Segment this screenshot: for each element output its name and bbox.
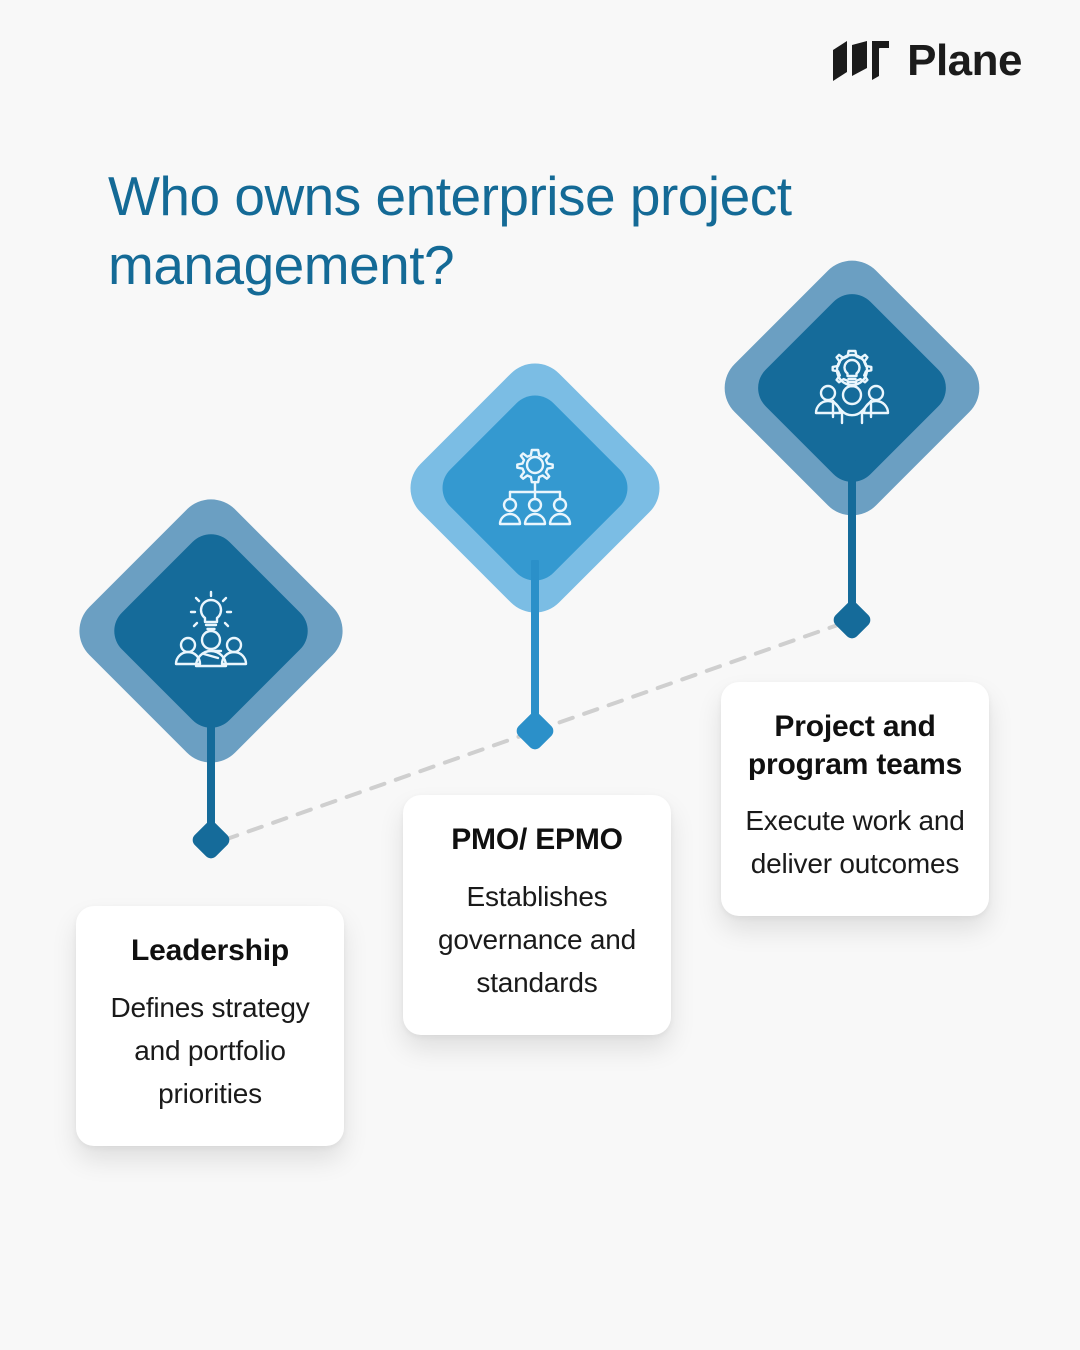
timeline-marker-project-program-teams [831, 599, 873, 641]
card-leadership[interactable]: Leadership Defines strategy and portfoli… [76, 906, 344, 1146]
lightbulb-over-team-icon [168, 588, 254, 674]
timeline-marker-pmo-epmo [514, 710, 556, 752]
gear-lightbulb-team-icon [809, 345, 895, 431]
card-title: Project and program teams [739, 708, 971, 783]
timeline-marker-leadership [190, 819, 232, 861]
card-body: Execute work and deliver outcomes [739, 799, 971, 886]
card-body: Defines strategy and portfolio prioritie… [94, 986, 326, 1116]
gear-over-org-chart-icon [493, 446, 577, 530]
card-project-program-teams[interactable]: Project and program teams Execute work a… [721, 682, 989, 916]
card-body: Establishes governance and standards [421, 875, 653, 1005]
card-title: Leadership [94, 932, 326, 970]
card-title: PMO/ EPMO [421, 821, 653, 859]
card-pmo-epmo[interactable]: PMO/ EPMO Establishes governance and sta… [403, 795, 671, 1035]
diagram-stage: Leadership Defines strategy and portfoli… [0, 0, 1080, 1350]
